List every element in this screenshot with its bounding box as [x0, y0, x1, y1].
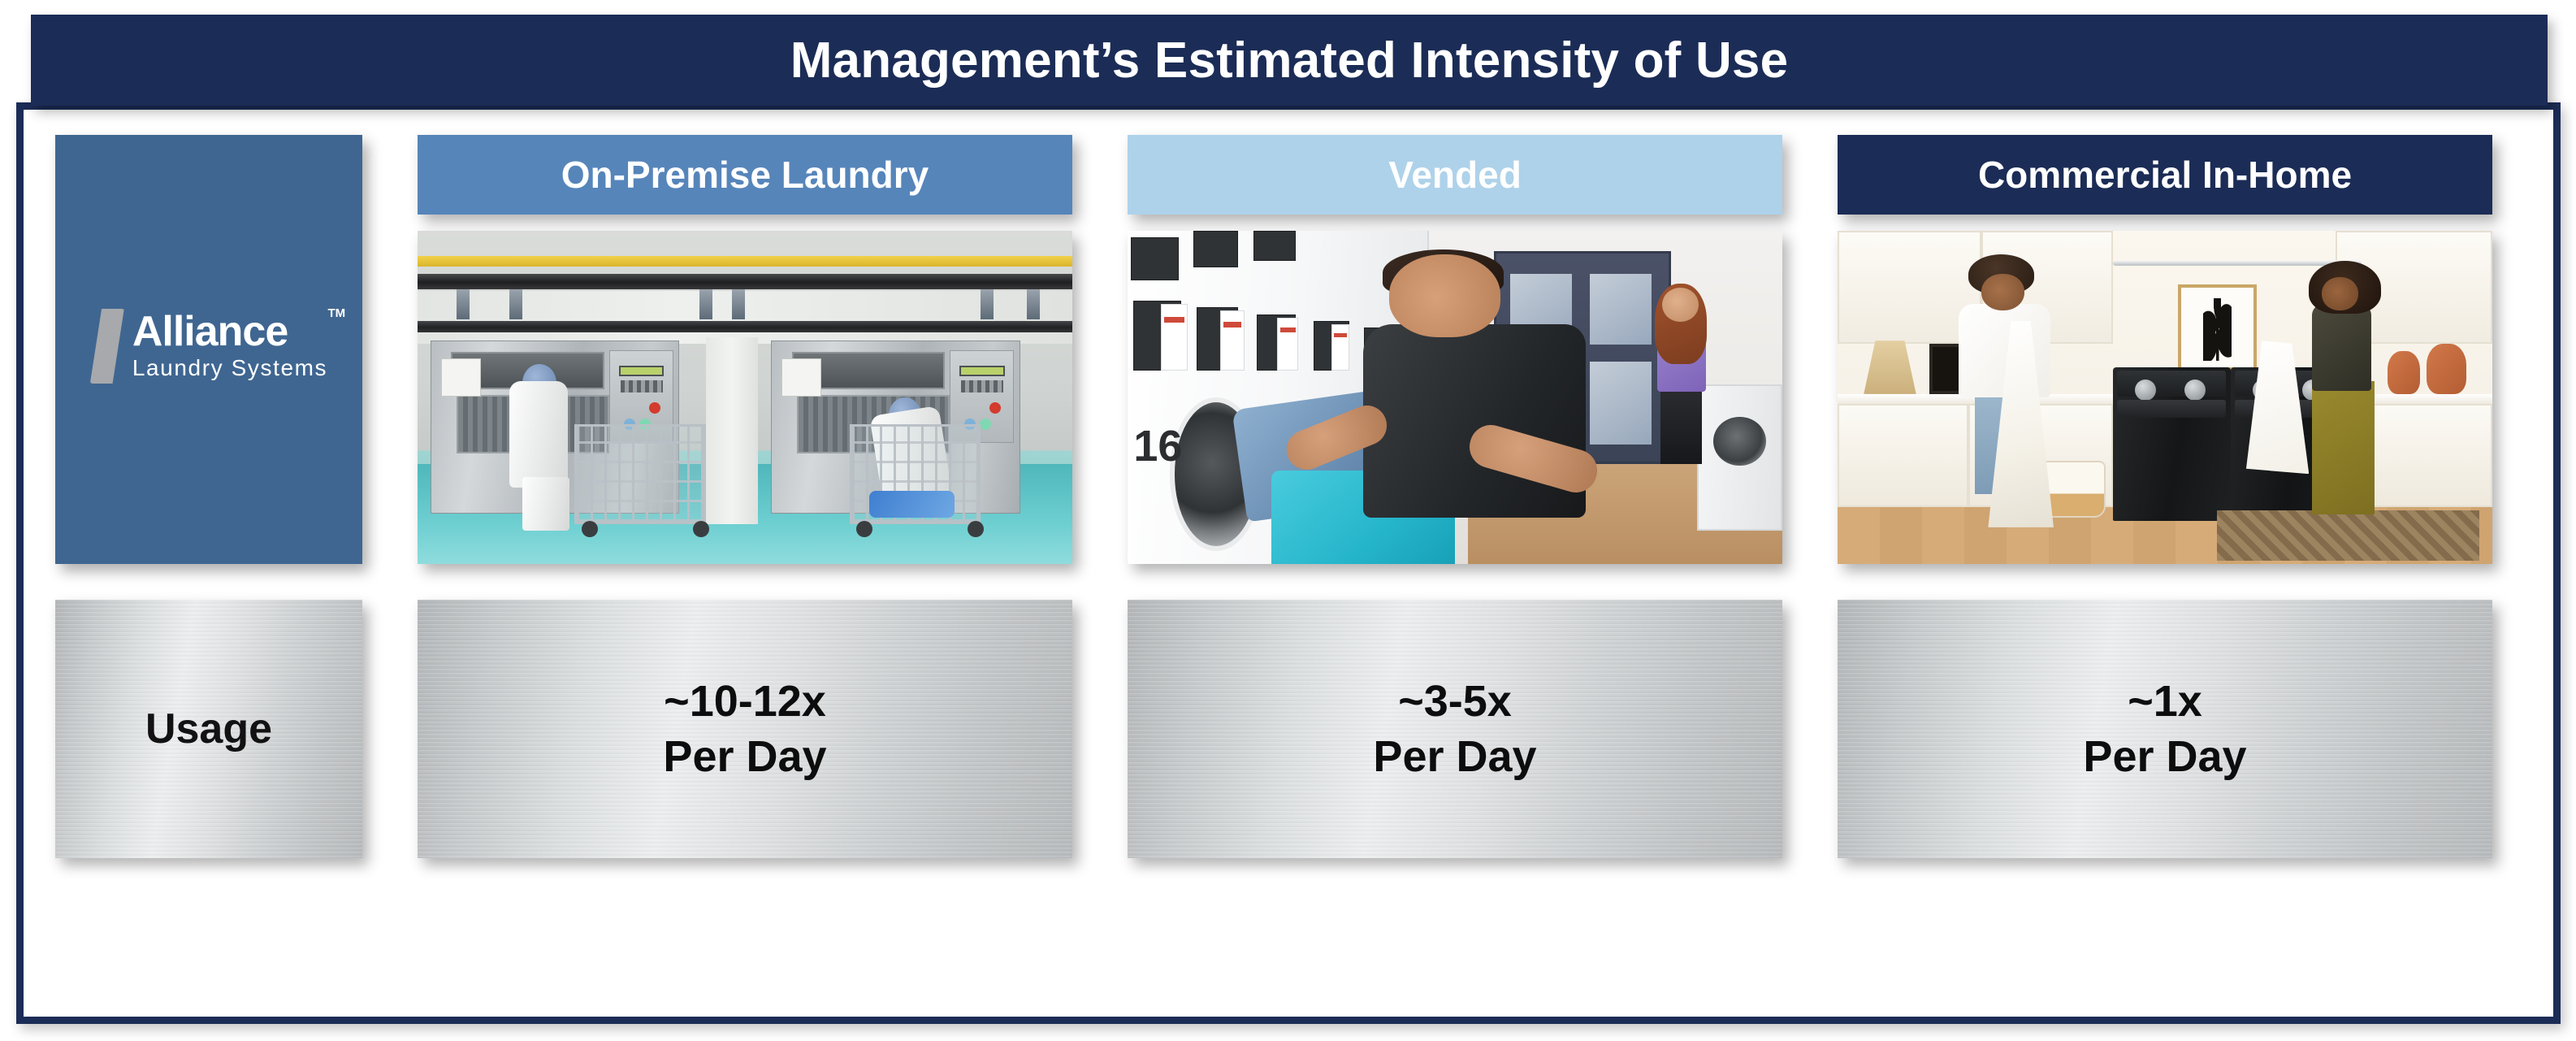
column-header-commercial-in-home: Commercial In-Home: [1838, 135, 2492, 215]
usage-value: ~10-12x: [664, 674, 826, 729]
column-vended: Vended: [1128, 135, 1782, 564]
logo-name-text: Alliance: [132, 308, 288, 355]
usage-unit: Per Day: [1373, 729, 1536, 784]
column-header-vended: Vended: [1128, 135, 1782, 215]
content-grid: Alliance TM Laundry Systems On-Premise L…: [16, 102, 2561, 1024]
usage-value: ~1x: [2128, 674, 2202, 729]
alliance-logo: Alliance TM Laundry Systems: [90, 309, 327, 384]
slide-root: Management’s Estimated Intensity of Use …: [0, 0, 2576, 1041]
alliance-slash-mark-icon: [90, 309, 124, 384]
usage-cell-on-premise-laundry: ~10-12x Per Day: [418, 600, 1072, 858]
photo-on-premise-laundry: [418, 231, 1072, 564]
logo-wordmark: Alliance TM Laundry Systems: [132, 311, 327, 380]
logo-name: Alliance TM: [132, 311, 327, 352]
photo-commercial-in-home: [1838, 231, 2492, 564]
usage-cell-vended: ~3-5x Per Day: [1128, 600, 1782, 858]
usage-value: ~3-5x: [1398, 674, 1512, 729]
trademark-icon: TM: [327, 308, 345, 320]
vended-machine-number: 16: [1133, 421, 1182, 471]
logo-subtitle: Laundry Systems: [132, 355, 327, 381]
column-header-label: On-Premise Laundry: [561, 153, 929, 197]
column-commercial-in-home: Commercial In-Home: [1838, 135, 2492, 564]
brand-logo-panel: Alliance TM Laundry Systems: [55, 135, 362, 564]
page-title: Management’s Estimated Intensity of Use: [790, 32, 1789, 89]
column-on-premise-laundry: On-Premise Laundry: [418, 135, 1072, 564]
usage-cell-commercial-in-home: ~1x Per Day: [1838, 600, 2492, 858]
usage-row-label-cell: Usage: [55, 600, 362, 858]
column-header-on-premise-laundry: On-Premise Laundry: [418, 135, 1072, 215]
usage-row-label: Usage: [145, 705, 272, 753]
photo-commercial-in-home-art: [1838, 231, 2492, 564]
column-header-label: Commercial In-Home: [1978, 153, 2352, 197]
slide-title-bar: Management’s Estimated Intensity of Use: [31, 15, 2548, 106]
photo-vended-art: 16: [1128, 231, 1782, 564]
column-header-label: Vended: [1388, 153, 1522, 197]
usage-unit: Per Day: [663, 729, 826, 784]
photo-on-premise-laundry-art: [418, 231, 1072, 564]
photo-vended: 16: [1128, 231, 1782, 564]
usage-unit: Per Day: [2083, 729, 2246, 784]
